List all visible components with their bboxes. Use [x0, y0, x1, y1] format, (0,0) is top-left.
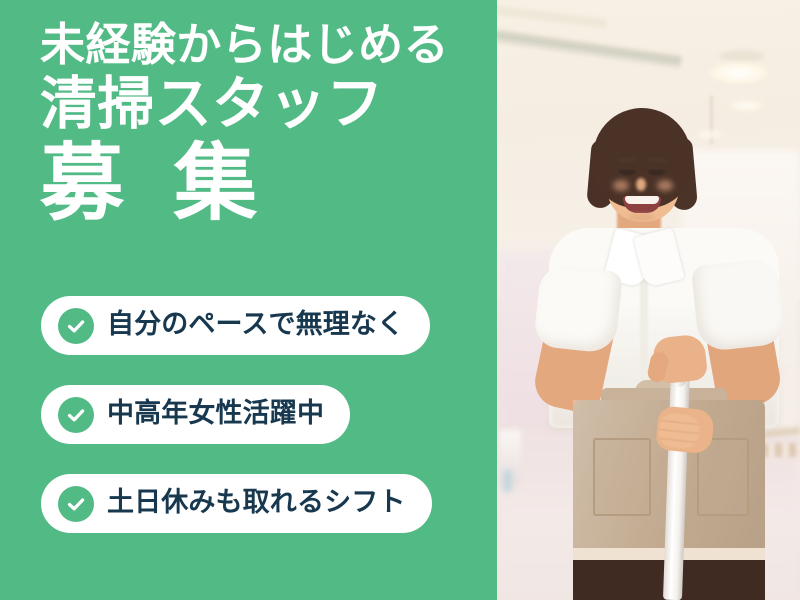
- person-cheek-right: [657, 180, 673, 191]
- person-cheek-left: [613, 180, 629, 191]
- blurred-chair-leg: [503, 470, 512, 492]
- person-teeth: [625, 196, 659, 204]
- feature-pill-list: 自分のペースで無理なく 中高年女性活躍中 土日休みも取れるシフト: [41, 296, 432, 533]
- feature-pill-label: 自分のペースで無理なく: [107, 311, 404, 340]
- ceiling-lamp-mid: [729, 100, 764, 111]
- apron-pocket-left: [593, 438, 651, 516]
- check-circle-icon: [58, 308, 94, 344]
- person-hair: [593, 108, 691, 208]
- headline-line-3: 募 集: [40, 139, 490, 227]
- person-chin-shadow: [627, 214, 655, 221]
- check-circle-icon: [58, 397, 94, 433]
- headline-block: 未経験からはじめる 清掃スタッフ 募 集: [40, 22, 490, 227]
- headline-line-1: 未経験からはじめる: [40, 22, 490, 67]
- feature-pill-label: 中高年女性活躍中: [107, 400, 324, 429]
- headline-line-2: 清掃スタッフ: [40, 76, 490, 133]
- check-circle-icon: [58, 486, 94, 522]
- ceiling-lamp-near: [697, 130, 723, 139]
- person-nose: [636, 178, 646, 191]
- person-eye-left: [619, 170, 636, 175]
- feature-pill-label: 土日休みも取れるシフト: [107, 489, 406, 518]
- staff-photo: [497, 0, 800, 600]
- recruitment-banner: 未経験からはじめる 清掃スタッフ 募 集 自分のペースで無理なく: [0, 0, 800, 600]
- person-eye-right: [648, 170, 665, 175]
- ceiling-lamp-far: [719, 50, 765, 62]
- green-panel: 未経験からはじめる 清掃スタッフ 募 集 自分のペースで無理なく: [0, 0, 497, 600]
- shirt-placket: [640, 272, 648, 382]
- feature-pill[interactable]: 土日休みも取れるシフト: [41, 474, 432, 533]
- shirt-sleeve-right: [691, 258, 786, 353]
- person-fingers-lower: [657, 412, 700, 450]
- shirt-sleeve-left: [533, 264, 623, 354]
- feature-pill[interactable]: 自分のペースで無理なく: [41, 296, 430, 355]
- ceiling-lamp: [709, 62, 769, 84]
- feature-pill[interactable]: 中高年女性活躍中: [41, 385, 350, 444]
